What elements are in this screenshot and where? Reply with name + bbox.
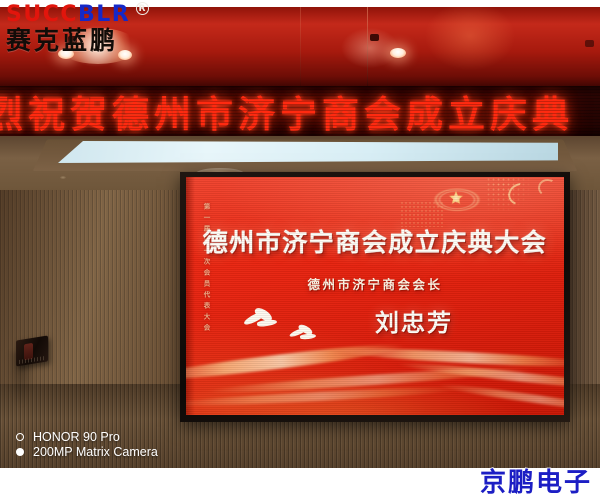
camera-watermark: HONOR 90 Pro 200MP Matrix Camera	[16, 430, 158, 460]
brand-chinese-name: 赛克蓝鹏	[6, 28, 149, 53]
corner-watermark: 京鹏电子	[480, 470, 592, 496]
ceiling-lamp-body	[370, 34, 379, 41]
star-icon	[448, 190, 464, 206]
solid-circle-icon	[16, 448, 24, 456]
wall-mounted-speaker	[16, 335, 48, 366]
led-ticker-text: 烈祝贺德州市济宁商会成立庆典	[0, 86, 574, 136]
led-screen-surface: 第一届第一次会员代表大会 德州市济宁商会成立庆典大会 德州市济宁商会会长 刘忠芳	[186, 177, 564, 415]
dove-body	[257, 319, 278, 328]
camera-spec-label: 200MP Matrix Camera	[33, 445, 158, 460]
screenshot-canvas: 烈祝贺德州市济宁商会成立庆典	[0, 0, 600, 500]
brand-wordmark: SUCCBLRR	[6, 4, 149, 26]
registered-trademark-icon: R	[136, 2, 149, 15]
led-ticker-banner: 烈祝贺德州市济宁商会成立庆典	[0, 86, 600, 136]
camera-watermark-line1: HONOR 90 Pro	[16, 430, 158, 445]
ceiling-seam	[300, 6, 301, 88]
firework-arc-icon	[537, 177, 560, 198]
ceiling-spotlight	[390, 48, 406, 58]
screen-subtitle: 德州市济宁商会会长	[186, 274, 564, 293]
gold-ribbon-waves	[186, 331, 564, 415]
ceiling-seam	[367, 6, 368, 88]
ceiling-light-panel	[58, 141, 558, 163]
screen-main-title: 德州市济宁商会成立庆典大会	[186, 223, 564, 259]
camera-model-label: HONOR 90 Pro	[33, 430, 120, 445]
brand-logo: SUCCBLRR 赛克蓝鹏	[6, 4, 149, 53]
firework-burst-icon	[422, 179, 492, 219]
ceiling-lamp-body	[585, 40, 594, 47]
brand-wordmark-part2: BLR	[78, 2, 130, 27]
firework-arc-icon	[505, 180, 537, 209]
led-video-wall: 第一届第一次会员代表大会 德州市济宁商会成立庆典大会 德州市济宁商会会长 刘忠芳	[180, 172, 570, 422]
ceiling-downlight	[60, 176, 66, 179]
hollow-circle-icon	[16, 433, 24, 441]
camera-watermark-line2: 200MP Matrix Camera	[16, 445, 158, 460]
brand-wordmark-part1: SUCC	[6, 2, 78, 27]
